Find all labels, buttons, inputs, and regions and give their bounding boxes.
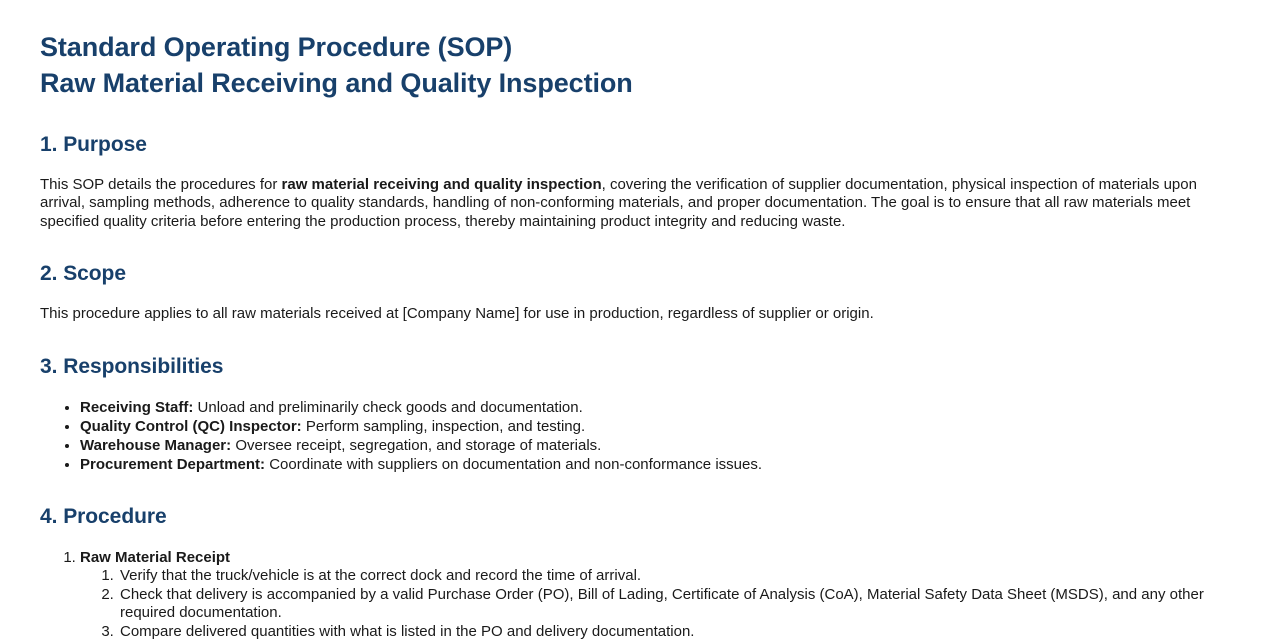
section-heading-purpose: 1. Purpose (40, 132, 1223, 158)
document-title-line-1: Standard Operating Procedure (SOP) (40, 30, 1223, 66)
responsibility-detail: Oversee receipt, segregation, and storag… (231, 437, 601, 454)
scope-paragraph: This procedure applies to all raw materi… (40, 305, 1220, 323)
responsibility-role: Receiving Staff: (80, 399, 193, 416)
list-item: Verify that the truck/vehicle is at the … (118, 567, 1223, 585)
section-heading-responsibilities: 3. Responsibilities (40, 354, 1223, 380)
responsibilities-list: Receiving Staff: Unload and preliminaril… (40, 398, 1223, 474)
responsibility-role: Procurement Department: (80, 456, 265, 473)
list-item: Quality Control (QC) Inspector: Perform … (80, 417, 1223, 436)
purpose-bold-phrase: raw material receiving and quality inspe… (282, 176, 602, 193)
procedure-substep-list: Verify that the truck/vehicle is at the … (80, 567, 1223, 639)
procedure-list: Raw Material Receipt Verify that the tru… (40, 548, 1223, 639)
list-item: Receiving Staff: Unload and preliminaril… (80, 398, 1223, 417)
list-item: Compare delivered quantities with what i… (118, 623, 1223, 639)
list-item: Raw Material Receipt Verify that the tru… (80, 548, 1223, 639)
responsibility-detail: Unload and preliminarily check goods and… (193, 399, 582, 416)
section-heading-scope: 2. Scope (40, 261, 1223, 287)
list-item: Warehouse Manager: Oversee receipt, segr… (80, 436, 1223, 455)
responsibility-role: Warehouse Manager: (80, 437, 231, 454)
purpose-text-part-1: This SOP details the procedures for (40, 176, 282, 193)
list-item: Check that delivery is accompanied by a … (118, 586, 1223, 623)
list-item: Procurement Department: Coordinate with … (80, 455, 1223, 474)
procedure-step-title: Raw Material Receipt (80, 549, 230, 566)
responsibility-detail: Perform sampling, inspection, and testin… (302, 418, 585, 435)
section-heading-procedure: 4. Procedure (40, 504, 1223, 530)
document-title: Standard Operating Procedure (SOP) Raw M… (40, 30, 1223, 102)
purpose-paragraph: This SOP details the procedures for raw … (40, 176, 1220, 231)
document-page: Standard Operating Procedure (SOP) Raw M… (0, 0, 1263, 639)
document-title-line-2: Raw Material Receiving and Quality Inspe… (40, 66, 1223, 102)
responsibility-role: Quality Control (QC) Inspector: (80, 418, 302, 435)
responsibility-detail: Coordinate with suppliers on documentati… (265, 456, 762, 473)
